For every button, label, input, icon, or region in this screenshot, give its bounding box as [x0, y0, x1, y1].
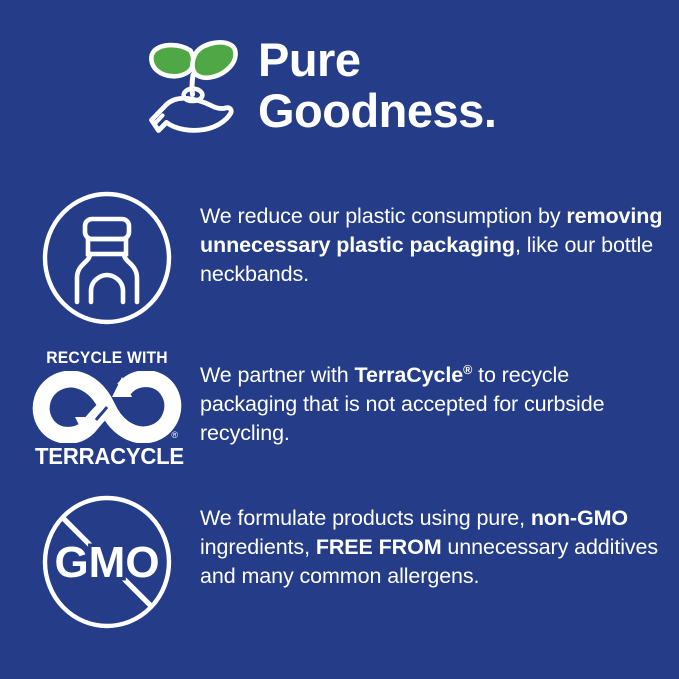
- terracycle-logo-icon: RECYCLE WITH ® TERRACYCLE: [0, 347, 200, 469]
- no-gmo-icon: GMO: [0, 494, 200, 630]
- text-part-bold: non-GMO: [531, 506, 628, 530]
- terracycle-lockup: RECYCLE WITH ® TERRACYCLE: [32, 347, 182, 469]
- feature-text-terracycle: We partner with TerraCycle® to recycle p…: [200, 347, 679, 448]
- bottle-neckband-circle-icon: [0, 190, 200, 326]
- text-part: We reduce our plastic consumption by: [200, 204, 566, 228]
- feature-text-gmo: We formulate products using pure, non-GM…: [200, 494, 679, 591]
- terracycle-top-label: RECYCLE WITH: [36, 349, 179, 368]
- terracycle-bottom-label: TERRACYCLE: [35, 444, 179, 469]
- recycle-infinity-icon: ®: [32, 371, 182, 443]
- text-part-bold: TerraCycle: [355, 363, 464, 387]
- hand-holding-sprout-icon: [146, 34, 246, 142]
- text-part: ingredients,: [200, 535, 316, 559]
- feature-row-plastic: We reduce our plastic consumption by rem…: [0, 190, 679, 326]
- text-part-bold: FREE FROM: [316, 535, 442, 559]
- feature-row-gmo: GMO We formulate products using pure, no…: [0, 494, 679, 630]
- text-part: We formulate products using pure,: [200, 506, 531, 530]
- feature-row-terracycle: RECYCLE WITH ® TERRACYCLE: [0, 347, 679, 469]
- page-title: Pure Goodness.: [258, 32, 496, 136]
- text-part-superscript: ®: [463, 363, 472, 377]
- gmo-label: GMO: [54, 538, 159, 587]
- text-part: We partner with: [200, 363, 355, 387]
- pure-goodness-infographic: Pure Goodness. We reduce our plastic con…: [0, 0, 679, 679]
- header: Pure Goodness.: [0, 0, 679, 175]
- feature-text-plastic: We reduce our plastic consumption by rem…: [200, 190, 679, 289]
- registered-trademark-mark: ®: [171, 431, 178, 440]
